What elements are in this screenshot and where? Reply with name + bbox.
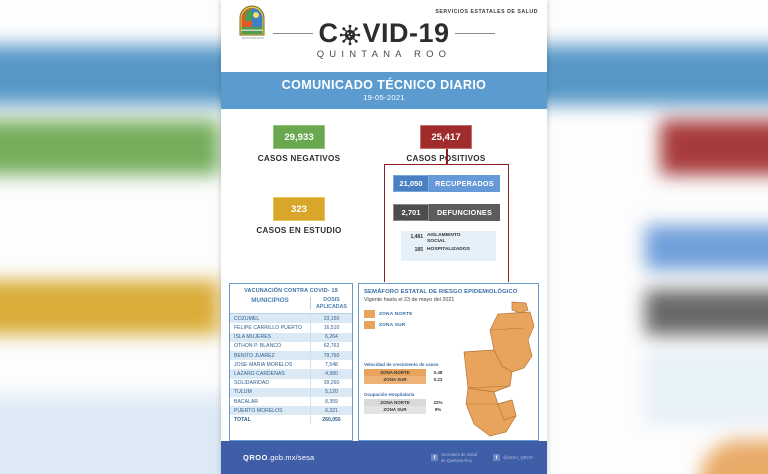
social-link[interactable]: fSecretaría de Saludde Quintana Roo	[431, 452, 477, 463]
legend-label: ZONA SUR	[375, 323, 405, 328]
metric-zone: ZONA NORTE	[364, 399, 426, 407]
covid-report-poster: QUINTANA ROO SERVICIOS ESTATALES DE SALU…	[221, 0, 547, 474]
doses-applied: 6,264	[310, 333, 352, 342]
growth-caption: Velocidad de crecimiento de casos	[364, 362, 450, 367]
municipality-name: BACALAR	[230, 397, 310, 406]
legend-label: ZONA NORTE	[375, 312, 413, 317]
banner-date: 19-05-2021	[221, 93, 547, 102]
deaths-bar: 2,701 DEFUNCIONES	[393, 204, 500, 221]
metric-row: ZONA NORTE22%	[364, 399, 450, 407]
vaccination-panel: VACUNACIÓN CONTRA COVID- 19 MUNICIPIOS D…	[229, 283, 353, 441]
vaccination-table-body: COZUMEL23,150FELIPE CARRILLO PUERTO16,51…	[230, 314, 352, 424]
logo-rule-right	[455, 33, 495, 34]
legend-item: ZONA SUR	[364, 321, 413, 329]
under-study-label: CASOS EN ESTUDIO	[241, 226, 357, 235]
vaccination-row: JOSE MARIA MORELOS7,548	[230, 360, 352, 369]
footer-social-links: fSecretaría de Saludde Quintana Root@SES…	[431, 452, 547, 463]
municipality-name: COZUMEL	[230, 314, 310, 323]
metric-value: 0.23	[426, 376, 450, 384]
vaccination-row: LAZARO CARDENAS4,980	[230, 369, 352, 378]
doses-applied: 4,980	[310, 369, 352, 378]
vaccination-table-header: MUNICIPIOS DOSIS APLICADAS	[230, 297, 352, 314]
quintana-roo-map	[454, 300, 539, 438]
legend-swatch	[364, 321, 375, 329]
metric-value: 9%	[426, 406, 450, 414]
negatives-label: CASOS NEGATIVOS	[241, 154, 357, 163]
municipality-name: OTHON P. BLANCO	[230, 342, 310, 351]
banner-title: COMUNICADO TÉCNICO DIARIO	[221, 78, 547, 92]
coronavirus-icon	[339, 24, 361, 46]
vaccination-row: COZUMEL23,150	[230, 314, 352, 323]
logo-subtitle: QUINTANA ROO	[221, 49, 547, 60]
vaccination-title: VACUNACIÓN CONTRA COVID- 19	[230, 284, 352, 297]
doses-applied: 7,548	[310, 360, 352, 369]
recovered-label: RECUPERADOS	[429, 175, 500, 192]
isolation-label: AISLAMIENTO SOCIAL	[423, 233, 461, 246]
recovered-value: 21,050	[393, 175, 429, 192]
social-handle: @SESA_QROO	[503, 455, 533, 460]
semaforo-panel: SEMÁFORO ESTATAL DE RIESGO EPIDEMIOLÓGIC…	[358, 283, 539, 441]
footer-brand-rest: .gob.mx/sesa	[268, 453, 314, 462]
vaccination-row: BENITO JUAREZ79,760	[230, 351, 352, 360]
vaccination-row: SOLIDARIDAD39,260	[230, 379, 352, 388]
social-link[interactable]: t@SESA_QROO	[493, 454, 533, 461]
occupancy-metric-block: Ocupación Hospitalaria ZONA NORTE22%ZONA…	[364, 392, 450, 414]
semaforo-title: SEMÁFORO ESTATAL DE RIESGO EPIDEMIOLÓGIC…	[359, 284, 538, 295]
hospitalized-row: 185 HOSPITALIZADOS	[401, 246, 496, 254]
municipality-name: FELIPE CARRILLO PUERTO	[230, 323, 310, 332]
active-cases-panel: 1,481 AISLAMIENTO SOCIAL 185 HOSPITALIZA…	[401, 231, 496, 261]
footer-brand-bold: QROO	[243, 453, 268, 462]
growth-metric-block: Velocidad de crecimiento de casos ZONA N…	[364, 362, 450, 384]
semaforo-legend: ZONA NORTEZONA SUR	[364, 310, 413, 332]
municipality-name: BENITO JUAREZ	[230, 351, 310, 360]
social-handle: Secretaría de Saludde Quintana Roo	[441, 452, 477, 463]
municipality-name: JOSE MARIA MORELOS	[230, 360, 310, 369]
municipality-name: LAZARO CARDENAS	[230, 369, 310, 378]
footer-brand[interactable]: QROO.gob.mx/sesa	[221, 453, 314, 462]
municipality-name: TOTAL	[230, 415, 310, 424]
vaccination-row: ISLA MUJERES6,264	[230, 333, 352, 342]
municipality-name: SOLIDARIDAD	[230, 379, 310, 388]
metric-row: ZONA SUR0.23	[364, 376, 450, 384]
header-doses: DOSIS APLICADAS	[310, 297, 352, 310]
isolation-row: 1,481 AISLAMIENTO SOCIAL	[401, 231, 496, 246]
logo-rule-left	[273, 33, 313, 34]
doses-applied: 23,150	[310, 314, 352, 323]
agency-label: SERVICIOS ESTATALES DE SALUD	[435, 9, 538, 15]
metric-row: ZONA SUR9%	[364, 406, 450, 414]
municipality-name: TULUM	[230, 388, 310, 397]
twitter-icon: t	[493, 454, 500, 461]
covid-wordmark: C	[318, 20, 449, 47]
occupancy-caption: Ocupación Hospitalaria	[364, 392, 450, 397]
under-study-value: 323	[273, 197, 325, 221]
statistics-section: 29,933 CASOS NEGATIVOS 25,417 CASOS POSI…	[221, 109, 547, 284]
metric-zone: ZONA SUR	[364, 406, 426, 414]
metric-zone: ZONA NORTE	[364, 369, 426, 377]
doses-applied: 8,359	[310, 397, 352, 406]
municipality-name: ISLA MUJERES	[230, 333, 310, 342]
covid-logo: C	[221, 20, 547, 60]
metric-row: ZONA NORTE0.48	[364, 369, 450, 377]
screenshot-stage: QUINTANA ROO SERVICIOS ESTATALES DE SALU…	[0, 0, 768, 474]
hospitalized-label: HOSPITALIZADOS	[423, 247, 470, 253]
doses-applied: 39,260	[310, 379, 352, 388]
poster-footer: QROO.gob.mx/sesa fSecretaría de Saludde …	[221, 441, 547, 474]
occupancy-table: ZONA NORTE22%ZONA SUR9%	[364, 399, 450, 414]
vaccination-row: PUERTO MORELOS6,321	[230, 406, 352, 415]
header-municipality: MUNICIPIOS	[230, 297, 310, 310]
municipality-name: PUERTO MORELOS	[230, 406, 310, 415]
vaccination-row: TULUM5,120	[230, 388, 352, 397]
hospitalized-value: 185	[405, 247, 423, 254]
connector-line	[446, 149, 448, 165]
logo-text-c: C	[318, 20, 338, 47]
facebook-icon: f	[431, 454, 438, 461]
doses-applied: 16,510	[310, 323, 352, 332]
legend-swatch	[364, 310, 375, 318]
deaths-label: DEFUNCIONES	[429, 204, 500, 221]
positives-value: 25,417	[420, 125, 472, 149]
growth-table: ZONA NORTE0.48ZONA SUR0.23	[364, 369, 450, 384]
doses-applied: 5,120	[310, 388, 352, 397]
logo-text-vid19: VID-19	[362, 20, 449, 47]
poster-header: QUINTANA ROO SERVICIOS ESTATALES DE SALU…	[221, 0, 547, 72]
doses-applied: 79,760	[310, 351, 352, 360]
negatives-value: 29,933	[273, 125, 325, 149]
doses-applied: 6,321	[310, 406, 352, 415]
deaths-value: 2,701	[393, 204, 429, 221]
metric-value: 22%	[426, 399, 450, 407]
report-banner: COMUNICADO TÉCNICO DIARIO 19-05-2021	[221, 72, 547, 109]
vaccination-row: BACALAR8,359	[230, 397, 352, 406]
recovered-bar: 21,050 RECUPERADOS	[393, 175, 500, 192]
vaccination-row: FELIPE CARRILLO PUERTO16,510	[230, 323, 352, 332]
lower-panels: VACUNACIÓN CONTRA COVID- 19 MUNICIPIOS D…	[229, 283, 539, 441]
vaccination-row: TOTAL260,055	[230, 415, 352, 424]
metric-zone: ZONA SUR	[364, 376, 426, 384]
isolation-value: 1,481	[405, 233, 423, 240]
doses-applied: 260,055	[310, 415, 352, 424]
vaccination-row: OTHON P. BLANCO62,763	[230, 342, 352, 351]
legend-item: ZONA NORTE	[364, 310, 413, 318]
metric-value: 0.48	[426, 369, 450, 377]
doses-applied: 62,763	[310, 342, 352, 351]
